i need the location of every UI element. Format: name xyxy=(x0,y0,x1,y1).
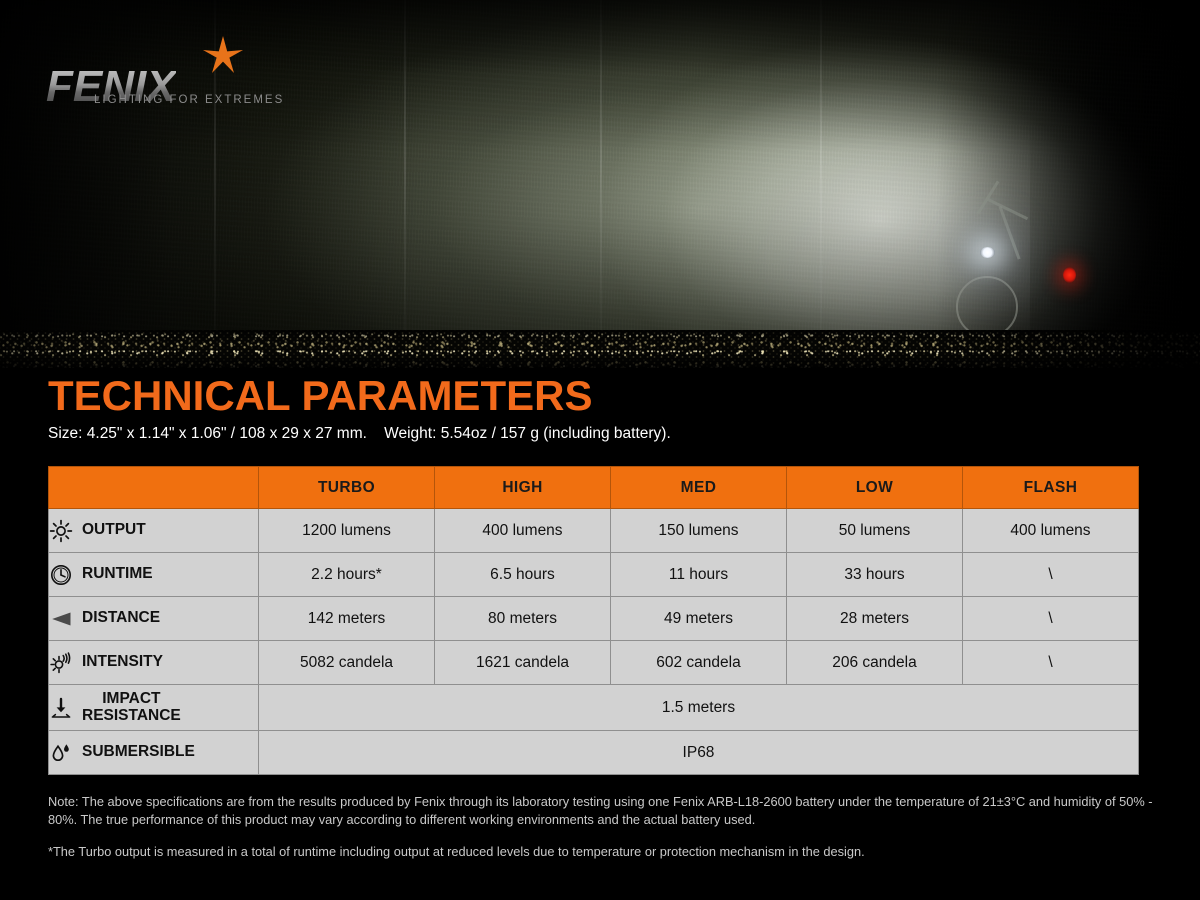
cell-runtime-turbo: 2.2 hours* xyxy=(259,553,435,597)
row-label-line1: IMPACT xyxy=(102,690,160,707)
bicycle-wheel xyxy=(956,276,1018,338)
cell-intensity-high: 1621 candela xyxy=(435,641,611,685)
spec-table-wrapper: TURBO HIGH MED LOW FLASH xyxy=(48,466,1138,775)
impact-arrow-icon xyxy=(49,696,73,720)
table-row: SUBMERSIBLE IP68 xyxy=(49,731,1139,775)
page-root: FENIX LIGHTING FOR EXTREMES TECHNICAL PA… xyxy=(0,0,1200,900)
row-label: INTENSITY xyxy=(82,654,163,671)
column-header-high: HIGH xyxy=(435,467,611,509)
table-row: RUNTIME 2.2 hours* 6.5 hours 11 hours 33… xyxy=(49,553,1139,597)
sun-icon xyxy=(49,519,73,543)
footnote-text: *The Turbo output is measured in a total… xyxy=(48,843,1158,861)
cell-output-turbo: 1200 lumens xyxy=(259,509,435,553)
cell-output-high: 400 lumens xyxy=(435,509,611,553)
brand-logo[interactable]: FENIX LIGHTING FOR EXTREMES xyxy=(46,36,296,108)
cell-output-low: 50 lumens xyxy=(787,509,963,553)
column-header-low: LOW xyxy=(787,467,963,509)
cell-intensity-med: 602 candela xyxy=(611,641,787,685)
cell-distance-med: 49 meters xyxy=(611,597,787,641)
row-label: RUNTIME xyxy=(82,566,153,583)
cell-intensity-turbo: 5082 candela xyxy=(259,641,435,685)
row-label-line2: RESISTANCE xyxy=(82,707,181,724)
column-header-flash: FLASH xyxy=(963,467,1139,509)
cell-distance-turbo: 142 meters xyxy=(259,597,435,641)
page-title: TECHNICAL PARAMETERS xyxy=(48,372,592,420)
notes-section: Note: The above specifications are from … xyxy=(48,793,1158,861)
cell-runtime-flash: \ xyxy=(963,553,1139,597)
cell-distance-flash: \ xyxy=(963,597,1139,641)
size-weight-line: Size: 4.25" x 1.14" x 1.06" / 108 x 29 x… xyxy=(48,425,671,443)
table-row: INTENSITY 5082 candela 1621 candela 602 … xyxy=(49,641,1139,685)
technical-parameters-table: TURBO HIGH MED LOW FLASH xyxy=(48,466,1139,775)
cell-runtime-low: 33 hours xyxy=(787,553,963,597)
row-header-output: OUTPUT xyxy=(49,509,259,553)
column-header-med: MED xyxy=(611,467,787,509)
gravel-shading xyxy=(0,330,1200,368)
beam-triangle-icon xyxy=(49,607,73,631)
row-label: SUBMERSIBLE xyxy=(82,744,195,761)
star-icon xyxy=(203,36,243,76)
hero-photo: FENIX LIGHTING FOR EXTREMES xyxy=(0,0,1200,368)
cell-distance-high: 80 meters xyxy=(435,597,611,641)
row-label: OUTPUT xyxy=(82,522,146,539)
row-header-distance: DISTANCE xyxy=(49,597,259,641)
cell-output-flash: 400 lumens xyxy=(963,509,1139,553)
table-corner-cell xyxy=(49,467,259,509)
row-header-impact-resistance: IMPACTRESISTANCE xyxy=(49,685,259,731)
cell-runtime-med: 11 hours xyxy=(611,553,787,597)
cell-intensity-flash: \ xyxy=(963,641,1139,685)
cell-intensity-low: 206 candela xyxy=(787,641,963,685)
table-row: IMPACTRESISTANCE 1.5 meters xyxy=(49,685,1139,731)
table-row: DISTANCE 142 meters 80 meters 49 meters … xyxy=(49,597,1139,641)
bicycle-taillight-icon xyxy=(1063,267,1076,283)
row-label: IMPACTRESISTANCE xyxy=(82,691,181,724)
cell-impact-resistance-value: 1.5 meters xyxy=(259,685,1139,731)
row-label: DISTANCE xyxy=(82,610,160,627)
row-header-runtime: RUNTIME xyxy=(49,553,259,597)
table-row: OUTPUT 1200 lumens 400 lumens 150 lumens… xyxy=(49,509,1139,553)
row-header-intensity: INTENSITY xyxy=(49,641,259,685)
cell-distance-low: 28 meters xyxy=(787,597,963,641)
sun-rays-icon xyxy=(49,651,73,675)
brand-tagline: LIGHTING FOR EXTREMES xyxy=(94,94,284,106)
cell-output-med: 150 lumens xyxy=(611,509,787,553)
bicycle-headlight-icon xyxy=(980,247,995,258)
water-drop-icon xyxy=(49,741,73,765)
cell-runtime-high: 6.5 hours xyxy=(435,553,611,597)
table-header-row: TURBO HIGH MED LOW FLASH xyxy=(49,467,1139,509)
note-text: Note: The above specifications are from … xyxy=(48,793,1158,829)
cell-submersible-value: IP68 xyxy=(259,731,1139,775)
column-header-turbo: TURBO xyxy=(259,467,435,509)
clock-icon xyxy=(49,563,73,587)
row-header-submersible: SUBMERSIBLE xyxy=(49,731,259,775)
